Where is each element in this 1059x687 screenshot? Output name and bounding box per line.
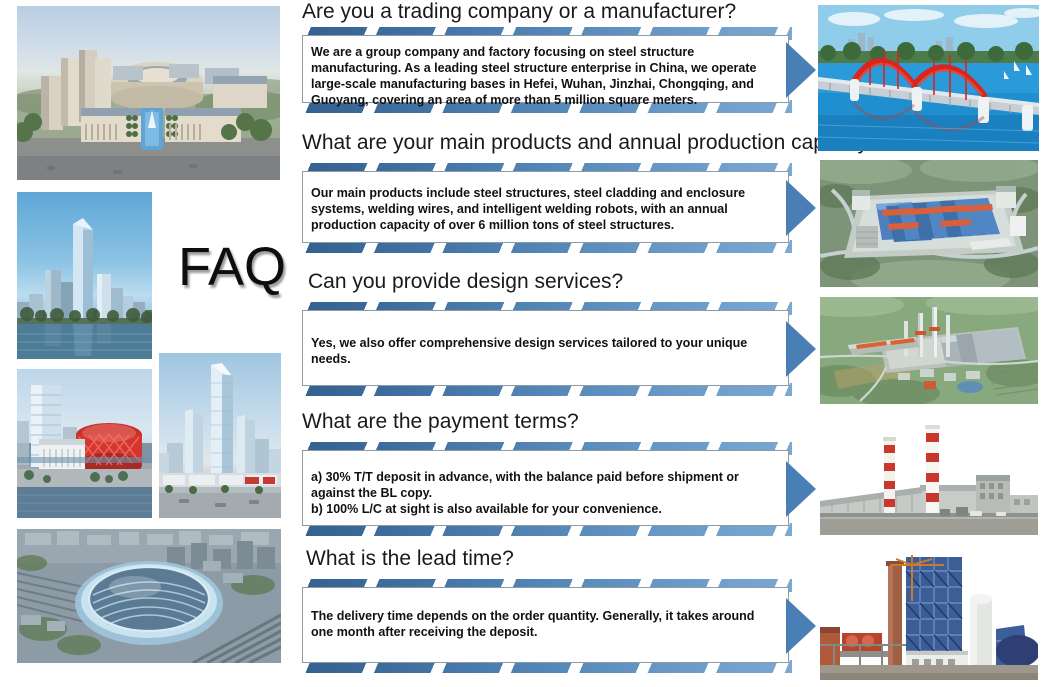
faq-question: What are your main products and annual p…	[296, 131, 796, 155]
faq-answer-text: Yes, we also offer comprehensive design …	[303, 311, 788, 376]
chimney-power-station-photo-image	[820, 413, 1038, 535]
faq-item: What is the lead time? The delivery time…	[296, 547, 796, 673]
dome-railway-station-aerial-image	[17, 529, 281, 663]
red-drum-arena-rendering-image	[17, 369, 152, 518]
civic-campus-aerial-rendering-image	[17, 6, 280, 180]
faq-answer-box: a) 30% T/T deposit in advance, with the …	[302, 450, 789, 526]
faq-answer-box: The delivery time depends on the order q…	[302, 587, 789, 663]
faq-item: What are the payment terms? a) 30% T/T d…	[296, 410, 796, 536]
faq-item: What are your main products and annual p…	[296, 131, 796, 253]
right-arrow-icon	[786, 461, 816, 517]
faq-list: Are you a trading company or a manufactu…	[296, 0, 796, 687]
faq-question: What are the payment terms?	[296, 410, 796, 434]
faq-answer-text: a) 30% T/T deposit in advance, with the …	[303, 451, 788, 526]
tower-waterfront-rendering-image	[17, 192, 152, 359]
faq-item: Are you a trading company or a manufactu…	[296, 0, 796, 113]
power-plant-aerial-rendering-image	[820, 297, 1038, 404]
faq-answer-text: Our main products include steel structur…	[303, 172, 788, 242]
faq-slide: FAQ Are you a trading company or a manuf…	[0, 0, 1059, 687]
steel-factory-aerial-rendering-image	[820, 160, 1038, 287]
right-image-gallery	[818, 0, 1059, 687]
faq-answer-box: We are a group company and factory focus…	[302, 35, 789, 103]
steel-mill-structure-photo-image	[820, 541, 1038, 680]
left-image-gallery: FAQ	[0, 0, 292, 687]
faq-answer-box: Our main products include steel structur…	[302, 171, 789, 243]
faq-answer-box: Yes, we also offer comprehensive design …	[302, 310, 789, 386]
right-arrow-icon	[786, 180, 816, 236]
red-arch-bridge-rendering-image	[818, 5, 1039, 151]
twin-glass-towers-rendering-image	[159, 353, 281, 518]
faq-question: What is the lead time?	[296, 547, 796, 571]
right-arrow-icon	[786, 598, 816, 654]
faq-question: Are you a trading company or a manufactu…	[296, 0, 796, 24]
right-arrow-icon	[786, 42, 816, 98]
faq-item: Can you provide design services? Yes, we…	[296, 270, 796, 396]
faq-answer-text: We are a group company and factory focus…	[303, 36, 788, 117]
right-arrow-icon	[786, 321, 816, 377]
page-title: FAQ	[178, 240, 288, 294]
faq-answer-text: The delivery time depends on the order q…	[303, 588, 788, 649]
faq-question: Can you provide design services?	[296, 270, 796, 294]
